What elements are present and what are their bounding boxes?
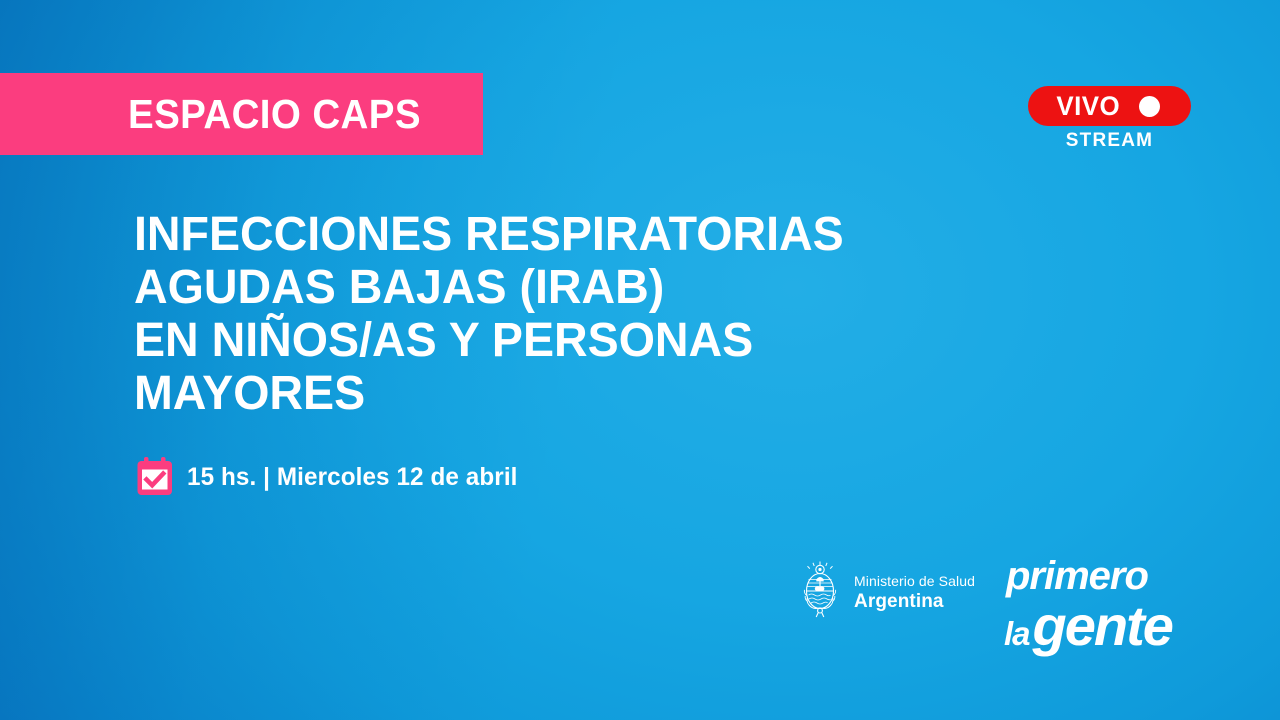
title-line-2: AGUDAS BAJAS (IRAB) [134, 261, 1007, 314]
title-line-3: EN NIÑOS/AS Y PERSONAS [134, 314, 1007, 367]
argentina-coat-of-arms-icon [798, 560, 842, 625]
ministry-logo-line1: Ministerio de Salud [854, 574, 975, 588]
stream-label: STREAM [1028, 131, 1191, 150]
campaign-logo: primero lagente [1004, 556, 1172, 654]
ministry-logo-text: Ministerio de Salud Argentina [854, 574, 975, 611]
live-pill: VIVO [1028, 86, 1191, 126]
live-badge: VIVO STREAM [1028, 86, 1191, 150]
ministry-logo: Ministerio de Salud Argentina [798, 560, 975, 625]
live-label: VIVO [1057, 93, 1121, 120]
ministry-logo-line2: Argentina [854, 592, 975, 611]
campaign-logo-line2: lagente [1004, 598, 1172, 654]
page-title: INFECCIONES RESPIRATORIAS AGUDAS BAJAS (… [134, 208, 1034, 420]
section-banner-label: ESPACIO CAPS [128, 94, 421, 135]
campaign-logo-la: la [1004, 615, 1030, 652]
live-dot-icon [1139, 96, 1160, 117]
campaign-logo-gente: gente [1033, 594, 1172, 657]
section-banner: ESPACIO CAPS [0, 73, 483, 155]
title-line-4: MAYORES [134, 367, 1007, 420]
calendar-check-icon [136, 457, 174, 497]
title-line-1: INFECCIONES RESPIRATORIAS [134, 208, 1007, 261]
slide-canvas: ESPACIO CAPS VIVO STREAM INFECCIONES RES… [0, 0, 1280, 720]
campaign-logo-line1: primero [1006, 556, 1172, 596]
schedule-row: 15 hs. | Miercoles 12 de abril [136, 457, 528, 497]
schedule-text: 15 hs. | Miercoles 12 de abril [187, 465, 517, 490]
